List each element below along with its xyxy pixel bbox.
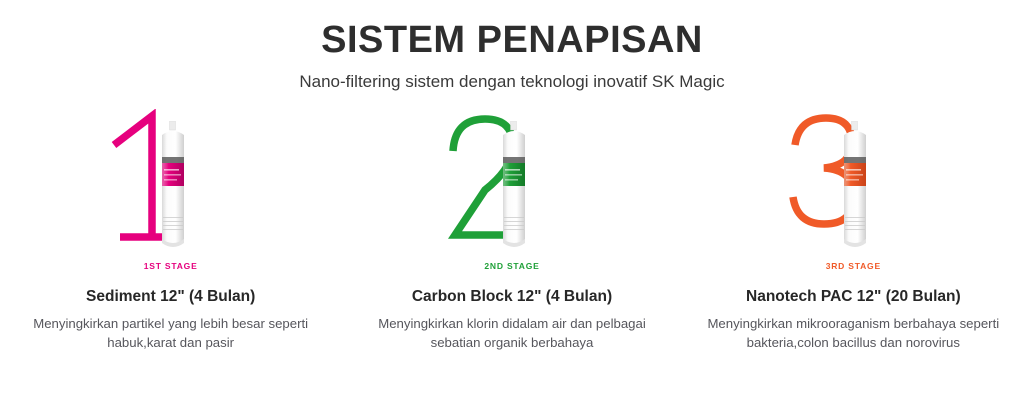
stage-item-3: 3RD STAGE Nanotech PAC 12" (20 Bulan) Me… — [683, 121, 1024, 352]
filtration-system-page: SISTEM PENAPISAN Nano-filtering sistem d… — [0, 0, 1024, 409]
stage-description-1: Menyingkirkan partikel yang lebih besar … — [16, 314, 326, 352]
stage-product-title-2: Carbon Block 12" (4 Bulan) — [412, 287, 612, 307]
water-filter-cartridge-icon — [840, 121, 870, 249]
stage-artwork-1 — [96, 121, 246, 249]
stage-artwork-2 — [437, 121, 587, 249]
stage-item-2: 2ND STAGE Carbon Block 12" (4 Bulan) Men… — [341, 121, 682, 352]
stage-label-3: 3RD STAGE — [826, 261, 881, 271]
stage-product-title-3: Nanotech PAC 12" (20 Bulan) — [746, 287, 961, 307]
stage-item-1: 1ST STAGE Sediment 12" (4 Bulan) Menying… — [0, 121, 341, 352]
page-title: SISTEM PENAPISAN — [0, 20, 1024, 62]
stage-product-title-1: Sediment 12" (4 Bulan) — [86, 287, 255, 307]
filtration-stages-list: 1ST STAGE Sediment 12" (4 Bulan) Menying… — [0, 121, 1024, 352]
stage-description-2: Menyingkirkan klorin didalam air dan pel… — [357, 314, 667, 352]
page-header: SISTEM PENAPISAN Nano-filtering sistem d… — [0, 0, 1024, 93]
stage-description-3: Menyingkirkan mikrooraganism berbahaya s… — [698, 314, 1008, 352]
stage-label-2: 2ND STAGE — [484, 261, 539, 271]
water-filter-cartridge-icon — [158, 121, 188, 249]
water-filter-cartridge-icon — [499, 121, 529, 249]
page-subtitle: Nano-filtering sistem dengan teknologi i… — [0, 71, 1024, 93]
stage-label-1: 1ST STAGE — [144, 261, 198, 271]
stage-artwork-3 — [778, 121, 928, 249]
